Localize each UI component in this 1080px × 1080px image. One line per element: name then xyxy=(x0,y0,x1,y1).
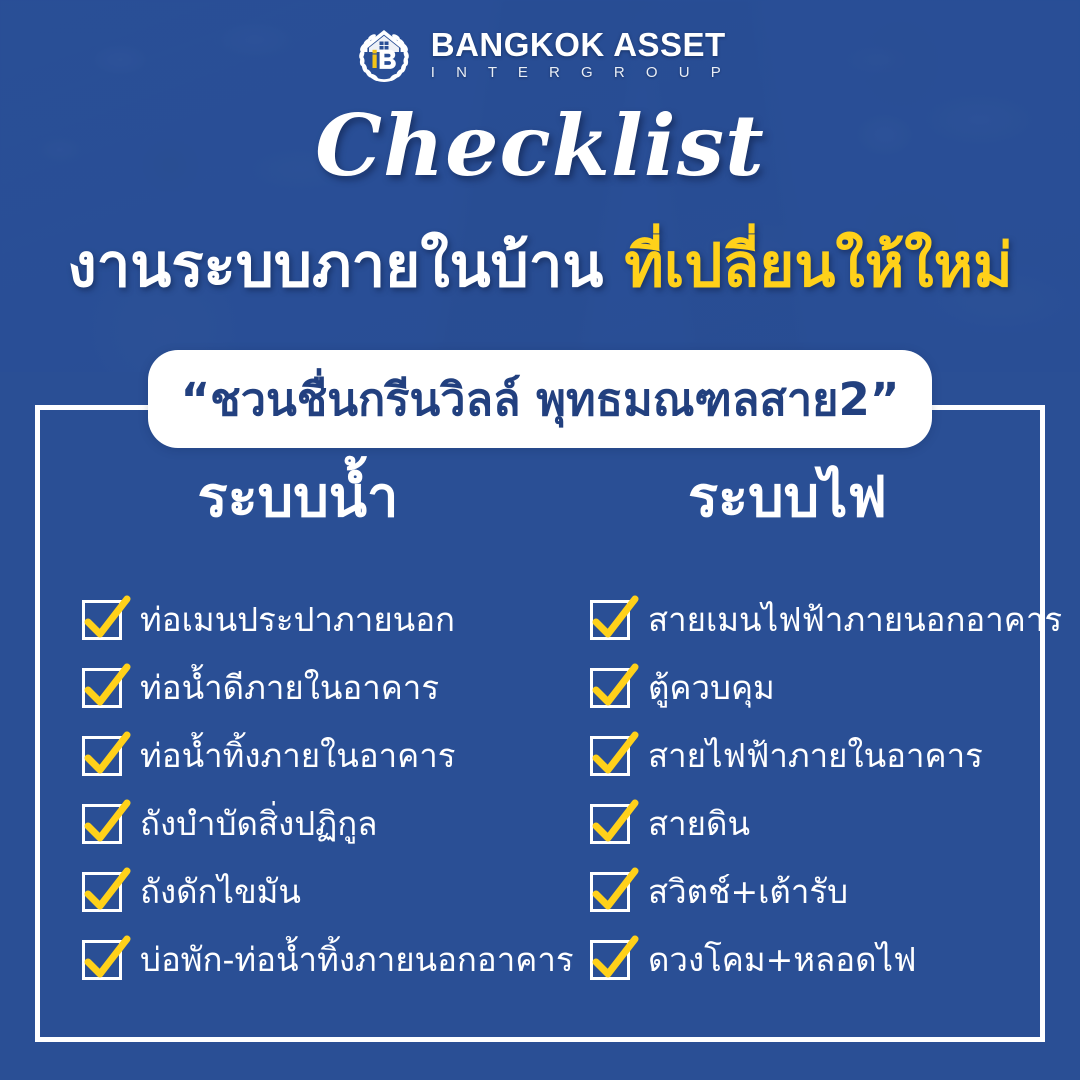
column-water-system: ระบบน้ำ ท่อเมนประปาภายนอก ท่อน้ำดีภายในอ… xyxy=(60,470,560,994)
list-item[interactable]: ท่อเมนประปาภายนอก xyxy=(60,586,560,654)
column-heading-water: ระบบน้ำ xyxy=(60,470,560,526)
poster-canvas: BANGKOK ASSET I N T E R G R O U P Checkl… xyxy=(0,0,1080,1080)
list-item-label: สายเมนไฟฟ้าภายนอกอาคาร xyxy=(648,602,1062,638)
project-name-label: “ชวนชื่นกรีนวิลล์ พุทธมณฑลสาย2” xyxy=(181,363,900,435)
checkbox-checked-icon[interactable] xyxy=(82,668,122,708)
checkbox-checked-icon[interactable] xyxy=(590,736,630,776)
list-item[interactable]: ถังดักไขมัน xyxy=(60,858,560,926)
checkbox-checked-icon[interactable] xyxy=(82,600,122,640)
checkbox-checked-icon[interactable] xyxy=(590,600,630,640)
list-item-label: ท่อน้ำทิ้งภายในอาคาร xyxy=(140,738,456,774)
list-item-label: สวิตช์+เต้ารับ xyxy=(648,874,848,910)
column-heading-electric: ระบบไฟ xyxy=(560,470,1045,526)
list-item-label: ถังบำบัดสิ่งปฏิกูล xyxy=(140,806,378,842)
brand-wordmark: BANGKOK ASSET I N T E R G R O U P xyxy=(431,28,729,80)
brand-logo: BANGKOK ASSET I N T E R G R O U P xyxy=(0,18,1080,90)
page-title: Checklist xyxy=(0,96,1080,195)
list-item[interactable]: ท่อน้ำทิ้งภายในอาคาร xyxy=(60,722,560,790)
subtitle-highlight-text: ที่เปลี่ยนให้ใหม่ xyxy=(624,231,1012,301)
list-item[interactable]: ท่อน้ำดีภายในอาคาร xyxy=(60,654,560,722)
brand-subname: I N T E R G R O U P xyxy=(431,65,729,80)
project-name-badge: “ชวนชื่นกรีนวิลล์ พุทธมณฑลสาย2” xyxy=(148,350,932,448)
checkbox-checked-icon[interactable] xyxy=(590,804,630,844)
checkbox-checked-icon[interactable] xyxy=(590,668,630,708)
list-item-label: สายดิน xyxy=(648,806,750,842)
page-subtitle: งานระบบภายในบ้าน ที่เปลี่ยนให้ใหม่ xyxy=(0,218,1080,313)
checklist-columns: ระบบน้ำ ท่อเมนประปาภายนอก ท่อน้ำดีภายในอ… xyxy=(35,470,1045,1030)
list-item-label: ท่อเมนประปาภายนอก xyxy=(140,602,455,638)
checkbox-checked-icon[interactable] xyxy=(590,872,630,912)
list-item[interactable]: ดวงโคม+หลอดไฟ xyxy=(560,926,1045,994)
checkbox-checked-icon[interactable] xyxy=(82,940,122,980)
subtitle-plain-text: งานระบบภายในบ้าน xyxy=(67,231,603,301)
list-item-label: ถังดักไขมัน xyxy=(140,874,301,910)
checklist-water-items: ท่อเมนประปาภายนอก ท่อน้ำดีภายในอาคาร ท่อ… xyxy=(60,586,560,994)
list-item[interactable]: สายดิน xyxy=(560,790,1045,858)
list-item[interactable]: สายเมนไฟฟ้าภายนอกอาคาร xyxy=(560,586,1045,654)
list-item-label: ตู้ควบคุม xyxy=(648,670,775,706)
list-item[interactable]: สวิตช์+เต้ารับ xyxy=(560,858,1045,926)
house-laurel-wreath-logo-icon xyxy=(351,21,417,87)
list-item-label: สายไฟฟ้าภายในอาคาร xyxy=(648,738,983,774)
checkbox-checked-icon[interactable] xyxy=(82,872,122,912)
list-item[interactable]: บ่อพัก-ท่อน้ำทิ้งภายนอกอาคาร xyxy=(60,926,560,994)
list-item[interactable]: สายไฟฟ้าภายในอาคาร xyxy=(560,722,1045,790)
list-item[interactable]: ถังบำบัดสิ่งปฏิกูล xyxy=(60,790,560,858)
list-item-label: ดวงโคม+หลอดไฟ xyxy=(648,942,916,978)
column-electrical-system: ระบบไฟ สายเมนไฟฟ้าภายนอกอาคาร ตู้ควบคุม xyxy=(560,470,1045,994)
checkbox-checked-icon[interactable] xyxy=(590,940,630,980)
checkbox-checked-icon[interactable] xyxy=(82,736,122,776)
checklist-electric-items: สายเมนไฟฟ้าภายนอกอาคาร ตู้ควบคุม สายไฟฟ้… xyxy=(560,586,1045,994)
list-item-label: ท่อน้ำดีภายในอาคาร xyxy=(140,670,439,706)
list-item-label: บ่อพัก-ท่อน้ำทิ้งภายนอกอาคาร xyxy=(140,942,574,978)
checkbox-checked-icon[interactable] xyxy=(82,804,122,844)
list-item[interactable]: ตู้ควบคุม xyxy=(560,654,1045,722)
brand-name: BANGKOK ASSET xyxy=(431,28,729,61)
